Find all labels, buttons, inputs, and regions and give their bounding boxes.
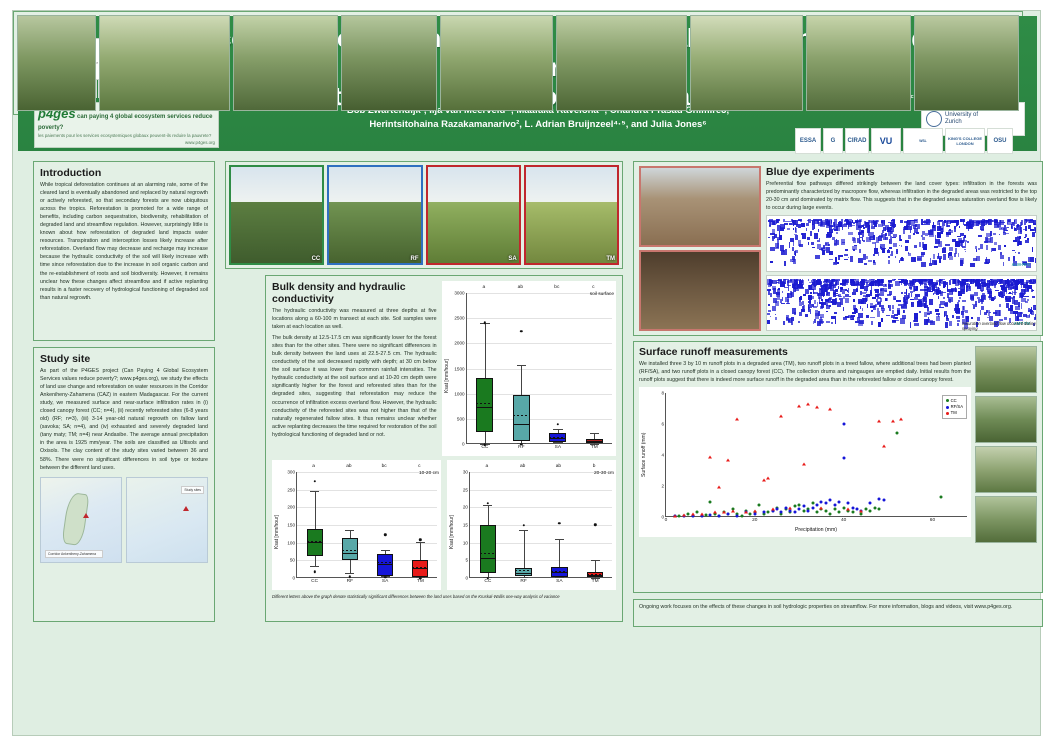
dye-stain (939, 288, 940, 290)
dye-stain (1007, 227, 1009, 228)
x-axis-label: Precipitation (mm) (795, 527, 837, 533)
dye-stain (808, 295, 813, 300)
gridline (470, 490, 612, 491)
dye-stain (910, 229, 911, 233)
dye-stain (1003, 262, 1004, 266)
dye-stain (862, 225, 864, 227)
dye-stain (1008, 219, 1011, 221)
significance-letter: a (486, 464, 489, 469)
dye-stain (919, 311, 921, 314)
dye-stain (869, 279, 872, 281)
whisker-cap-upper (345, 530, 354, 531)
dye-stain (970, 279, 972, 284)
y-axis-tick: 200 (287, 505, 295, 510)
dye-stain (948, 230, 953, 232)
dye-stain (993, 233, 995, 234)
dye-stain (840, 287, 842, 289)
dye-stain (916, 232, 919, 234)
dye-stain (844, 280, 848, 285)
dye-stain (1017, 236, 1019, 238)
dye-stain (795, 289, 799, 292)
outlier-point (419, 538, 421, 540)
photo-label-tm: TM (606, 256, 615, 262)
dye-stain (862, 308, 863, 310)
dye-stain (821, 299, 823, 301)
dye-stain (870, 306, 875, 308)
study-site-maps: Corridor Ankeniheny-Zahamena Study sites (40, 477, 208, 563)
dye-stain (868, 233, 871, 235)
study-site-panel: Study site As part of the P4GES project … (33, 347, 215, 622)
dye-stain (863, 240, 864, 242)
dye-stain (949, 291, 953, 294)
dye-stain (963, 306, 964, 310)
data-point-TM (691, 513, 695, 516)
dye-stain (775, 317, 777, 319)
dye-stain (770, 281, 772, 286)
y-axis-tick: 2500 (454, 316, 464, 321)
dye-stain (822, 250, 825, 255)
plot-area: 050100150200250300CCRFSATM (296, 472, 437, 578)
dye-stain (832, 299, 836, 305)
dye-stain (934, 246, 938, 248)
bulk-density-text-1: The hydraulic conductivity was measured … (272, 307, 437, 331)
fieldwork-photo-4 (341, 15, 437, 111)
fieldwork-photo-7 (690, 15, 803, 111)
dye-stain (912, 282, 916, 285)
dye-stain (813, 285, 815, 290)
dye-stain (914, 245, 916, 248)
uzh-city: Zurich (945, 119, 962, 125)
p4ges-tagline-fr: les paiements pour les services ecosyste… (38, 133, 211, 138)
dye-stain (831, 316, 836, 319)
dye-stain (922, 237, 925, 240)
bulk-density-text-2: The bulk density at 12.5-17.5 cm was sig… (272, 334, 437, 439)
dye-stain (853, 249, 855, 251)
legend-swatch (946, 412, 949, 415)
dye-stain (970, 221, 974, 223)
dye-stain (893, 219, 895, 225)
dye-stain (947, 225, 951, 227)
dye-stain (998, 245, 1001, 250)
dye-stain (1004, 245, 1005, 247)
dye-stain (925, 233, 928, 235)
dye-stain (811, 242, 814, 245)
whisker-upper (559, 539, 560, 567)
dye-stain (859, 249, 861, 253)
dye-stain (1003, 280, 1006, 284)
whisker-upper (524, 530, 525, 569)
dye-stain (845, 294, 849, 296)
dye-stain (835, 258, 837, 259)
dye-stain (989, 280, 990, 285)
data-point-CC (709, 500, 712, 503)
dye-stain (934, 284, 937, 288)
dye-stain (877, 311, 879, 317)
dye-stain (958, 291, 963, 296)
dye-stain (965, 316, 969, 320)
dye-stain (770, 293, 773, 296)
dye-coverage-plot-rf: ALM-RF1 (766, 215, 1037, 271)
dye-stain (930, 320, 934, 323)
data-point-CC (740, 514, 743, 517)
gridline (297, 472, 437, 473)
dye-stain (889, 305, 891, 311)
data-point-TM (806, 402, 810, 405)
dye-stain (843, 224, 847, 228)
data-point-RF/SA (811, 506, 814, 509)
outlier-point (557, 423, 559, 425)
whisker-upper (420, 542, 421, 561)
dye-stain (923, 296, 926, 299)
dye-stain (869, 236, 872, 240)
dye-stain (781, 281, 784, 285)
bulk-density-panel: Bulk density and hydraulic conductivity … (265, 275, 623, 622)
outlier-point (384, 533, 386, 535)
dye-stain (820, 317, 822, 323)
map-pointer-icon (83, 513, 89, 518)
data-point-RF/SA (753, 513, 756, 516)
dye-stain (949, 247, 953, 250)
dye-stain (944, 303, 948, 306)
dye-stain (1000, 220, 1001, 221)
dye-stain (787, 228, 790, 230)
whisker-cap-upper (553, 429, 562, 430)
dye-stain (903, 280, 908, 283)
dye-stain (1015, 252, 1017, 253)
dye-stain (924, 287, 928, 290)
x-axis-tick: 60 (930, 518, 935, 523)
dye-stain (817, 220, 819, 225)
dye-stain (1006, 303, 1009, 308)
dye-stain (975, 282, 979, 285)
dye-stain (878, 301, 880, 304)
dye-stain (807, 237, 810, 241)
dye-stain (784, 261, 786, 266)
runoff-photo-plot-2 (975, 396, 1037, 443)
dye-stain (878, 252, 879, 257)
dye-stain (1033, 223, 1036, 225)
dye-stain (803, 294, 806, 297)
dye-stain (911, 302, 914, 308)
p4ges-url[interactable]: www.p4ges.org (185, 140, 215, 146)
data-point-CC (687, 513, 690, 516)
dye-stain (961, 311, 964, 315)
dye-stain (1031, 307, 1032, 310)
y-axis-tick: 100 (287, 540, 295, 545)
dye-stain (942, 221, 945, 226)
dye-stain (826, 279, 827, 283)
dye-stain (848, 219, 851, 224)
data-point-RF/SA (824, 502, 827, 505)
dye-stain (799, 302, 802, 306)
data-point-CC (860, 513, 863, 516)
dye-stain (848, 232, 853, 235)
median-line (513, 424, 530, 425)
dye-stain (1035, 258, 1037, 263)
whisker-cap-upper (591, 560, 600, 561)
chart-ksat-soil-surface: 050010001500200025003000CCRFSATMaabbccKs… (442, 281, 616, 456)
dye-stain (945, 322, 948, 328)
y-axis-tick: 15 (463, 523, 468, 528)
dye-stain (906, 225, 908, 227)
box-RF (513, 395, 530, 440)
dye-stain (1025, 240, 1029, 243)
dye-stain (965, 310, 968, 313)
dye-stain (791, 321, 793, 325)
significance-letter: bc (382, 464, 387, 469)
median-line (551, 572, 567, 573)
outlier-point (349, 576, 351, 578)
photo-closed-canopy-forest: CC (229, 165, 324, 265)
dye-stain (1012, 298, 1015, 303)
dye-stain (834, 240, 839, 246)
dye-stain (782, 291, 784, 293)
dye-stain (939, 279, 942, 283)
dye-stain (961, 283, 963, 288)
mean-line (513, 415, 530, 416)
dye-stain (908, 293, 910, 298)
median-line (549, 438, 566, 439)
dye-stain (853, 299, 855, 302)
dye-stain (888, 284, 892, 287)
dye-stain (800, 296, 801, 300)
gridline (470, 472, 612, 473)
data-point-RF/SA (798, 508, 801, 511)
data-point-TM (708, 455, 712, 458)
dye-stain (828, 221, 831, 226)
dye-stain (844, 220, 846, 222)
y-axis-tick: 2000 (454, 341, 464, 346)
dye-stain (979, 283, 983, 285)
dye-stain (1028, 225, 1031, 228)
mean-line (549, 437, 566, 438)
dye-stain (978, 248, 979, 250)
data-point-TM (802, 463, 806, 466)
dye-stain (900, 220, 902, 224)
dye-stain (1023, 314, 1027, 317)
data-point-TM (673, 514, 677, 517)
dye-stain (944, 311, 947, 316)
dye-stain (1036, 279, 1037, 281)
data-point-CC (798, 503, 801, 506)
dye-stain (863, 279, 867, 281)
dye-stain (959, 226, 960, 228)
dye-stain (911, 257, 916, 261)
dye-stain (955, 304, 959, 310)
y-axis-tick: 2 (661, 484, 664, 489)
median-line (476, 407, 493, 408)
whisker-cap-upper (519, 530, 528, 531)
dye-stain (835, 319, 837, 324)
whisker-lower (350, 560, 351, 574)
dye-stain (824, 284, 828, 286)
ongoing-work-text: Ongoing work focuses on the effects of t… (639, 603, 1037, 611)
dye-stain (919, 282, 923, 284)
data-point-TM (882, 444, 886, 447)
dye-stain (934, 261, 937, 265)
dye-stain (1023, 229, 1026, 230)
dye-stain (944, 282, 948, 285)
dye-stain (957, 221, 959, 226)
fieldwork-photo-1 (17, 15, 96, 111)
dye-stain (917, 256, 921, 261)
dye-stain (767, 313, 770, 316)
dye-stain (1027, 238, 1028, 240)
dye-stain (930, 311, 933, 314)
dye-stain (899, 235, 901, 241)
y-axis-tick: 0 (462, 442, 465, 447)
dye-stain (858, 258, 863, 262)
dye-stain (1036, 302, 1037, 303)
dye-stain (970, 263, 974, 266)
dye-stain (934, 289, 938, 295)
chart-corner-label: 20-30 cm (594, 471, 614, 476)
dye-stain (989, 259, 990, 263)
dye-stain (901, 245, 903, 246)
dye-stain (976, 249, 977, 252)
dye-stain (770, 316, 771, 317)
dye-stain (896, 300, 901, 303)
whisker-upper (350, 530, 351, 538)
dye-stain (813, 279, 816, 281)
y-axis-tick: 1500 (454, 366, 464, 371)
dye-stain (905, 246, 909, 251)
dye-stain (799, 281, 802, 285)
y-axis-tick: 1000 (454, 391, 464, 396)
dye-stain (988, 296, 990, 298)
dye-stain (799, 312, 801, 316)
data-point-TM (819, 506, 823, 509)
dye-stain (856, 226, 861, 230)
dye-stain (1002, 285, 1004, 291)
data-point-RF/SA (780, 511, 783, 514)
dye-stain (986, 241, 991, 243)
dye-stain (999, 234, 1000, 236)
dye-stain (943, 297, 945, 299)
dye-stain (1027, 285, 1028, 289)
x-axis-tick: 0 (665, 518, 668, 523)
dye-stain (853, 222, 855, 224)
y-axis-tick: 6 (661, 422, 664, 427)
dye-stain (848, 288, 849, 292)
runoff-photo-plot-3 (975, 446, 1037, 493)
dye-stain (822, 294, 824, 296)
data-point-RF/SA (784, 506, 787, 509)
data-point-TM (899, 418, 903, 421)
dye-stain (915, 224, 917, 226)
dye-stain (950, 220, 951, 224)
dye-stain (1014, 228, 1017, 231)
dye-stain (1012, 279, 1013, 281)
dye-stain (783, 221, 788, 222)
poster: Land cover effects on infiltration, pref… (12, 10, 1041, 736)
dye-stain (1019, 293, 1023, 298)
x-axis-tick: RF (520, 579, 526, 584)
data-point-RF/SA (882, 499, 885, 502)
dye-stain (814, 233, 817, 238)
partner-logo-cirad: CIRAD (845, 128, 869, 154)
outlier-point (313, 480, 315, 482)
dye-stain (958, 253, 959, 258)
dye-stain (851, 319, 854, 320)
dye-stain (908, 283, 912, 287)
dye-stain (866, 290, 867, 293)
data-point-CC (802, 509, 805, 512)
dye-stain (910, 322, 911, 328)
data-point-TM (753, 509, 757, 512)
dye-stain (858, 220, 861, 223)
dye-stain (957, 320, 960, 322)
dye-stain (866, 222, 868, 227)
dye-stain (780, 226, 781, 229)
dye-stain (848, 257, 850, 258)
dye-stain (941, 231, 943, 234)
box-CC (480, 525, 496, 574)
dye-stain (808, 242, 809, 245)
dye-stain (849, 296, 851, 297)
x-axis-tick: RF (347, 579, 353, 584)
significance-letter: ab (520, 464, 525, 469)
dye-stain (789, 242, 791, 248)
dye-stain (1010, 305, 1013, 311)
dye-stain (773, 288, 776, 293)
dye-stain (772, 229, 775, 234)
chart-surface-runoff-vs-precipitation: 024680204060Surface runoff (mm)Precipita… (639, 387, 971, 537)
partner-logo-kcl: KING'S COLLEGE LONDON (945, 128, 985, 154)
dye-stain (949, 256, 954, 261)
partner-logo-g: G (823, 128, 843, 154)
mean-line (515, 570, 531, 571)
dye-stain (921, 262, 926, 268)
significance-letter: bc (554, 285, 559, 290)
dye-stain (939, 307, 944, 308)
dye-stain (943, 254, 946, 260)
whisker-cap-upper (517, 365, 526, 366)
dye-stain (895, 256, 897, 257)
dye-stain (978, 235, 982, 237)
dye-stain (899, 260, 900, 264)
dye-stain (942, 292, 945, 293)
dye-stain (947, 293, 949, 299)
box-SA (377, 554, 393, 576)
mean-line (307, 541, 323, 542)
data-point-TM (735, 418, 739, 421)
dye-stain (1015, 313, 1016, 317)
dye-stain (1036, 287, 1037, 288)
dye-stain (911, 293, 912, 298)
dye-stain (790, 259, 795, 263)
dye-stain (966, 279, 968, 282)
dye-stain (818, 229, 819, 232)
dye-stain (928, 317, 929, 321)
dye-stain (772, 306, 776, 311)
dye-stain (1028, 285, 1032, 288)
data-point-CC (873, 506, 876, 509)
dye-stain (837, 262, 839, 264)
blue-dye-caption: Saturation overland flow occurred during… (962, 321, 1038, 332)
madagascar-shape-icon (61, 492, 89, 546)
dye-stain (826, 300, 828, 306)
y-axis-tick: 150 (287, 523, 295, 528)
dye-stain (960, 219, 965, 222)
dye-stain (794, 251, 796, 254)
dye-stain (892, 305, 894, 309)
data-point-RF/SA (762, 511, 765, 514)
dye-stain (851, 282, 856, 285)
dye-stain (862, 238, 863, 241)
dye-stain (947, 285, 949, 291)
legend-label: TM (951, 410, 957, 416)
